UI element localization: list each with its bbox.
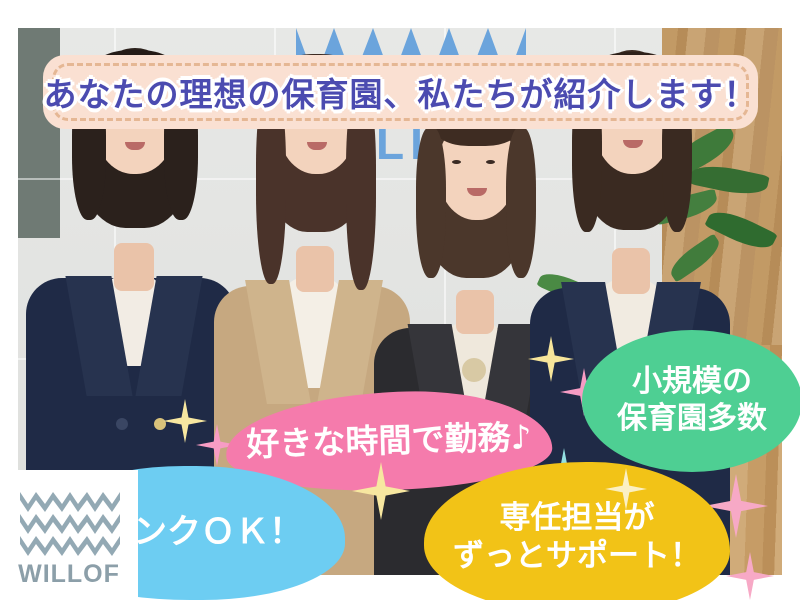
headline-banner: あなたの理想の保育園、私たちが紹介します！ bbox=[43, 55, 758, 129]
bubble-green-text: 小規模の 保育園多数 bbox=[617, 364, 767, 437]
bubble-pink-text: 好きな時間で勤務♪ bbox=[246, 417, 532, 465]
zigzag-waves-icon bbox=[20, 490, 120, 556]
bubble-green[interactable]: 小規模の 保育園多数 bbox=[582, 330, 800, 472]
willof-logo-card[interactable]: WILLOF bbox=[0, 470, 138, 600]
bubble-yellow-text: 専任担当が ずっとサポート！ bbox=[453, 500, 701, 576]
poster-canvas: WILLOF bbox=[0, 0, 800, 600]
logo-wordmark: WILLOF bbox=[0, 560, 138, 589]
headline-text: あなたの理想の保育園、私たちが紹介します！ bbox=[43, 68, 758, 116]
